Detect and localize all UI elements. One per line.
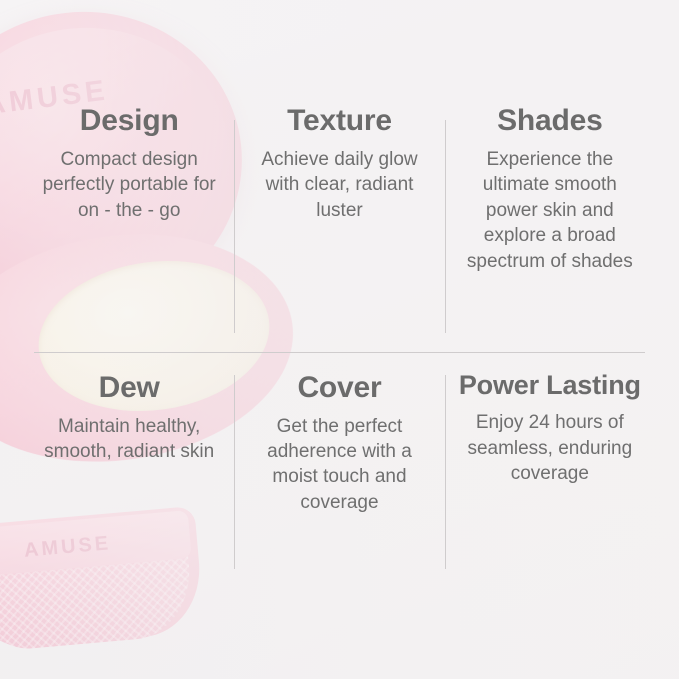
feature-cell-design: Design Compact design perfectly portable…	[24, 104, 234, 349]
feature-title-cover: Cover	[297, 371, 381, 404]
feature-cell-power-lasting: Power Lasting Enjoy 24 hours of seamless…	[445, 349, 655, 594]
feature-title-shades: Shades	[497, 104, 603, 137]
feature-description-dew: Maintain healthy, smooth, radiant skin	[38, 414, 220, 465]
feature-description-shades: Experience the ultimate smooth power ski…	[459, 147, 641, 274]
product-feature-infographic: AMUSE AMUSE Design Compact design perfec…	[0, 0, 679, 679]
feature-cell-shades: Shades Experience the ultimate smooth po…	[445, 104, 655, 349]
feature-description-cover: Get the perfect adherence with a moist t…	[248, 414, 430, 516]
feature-cell-cover: Cover Get the perfect adherence with a m…	[234, 349, 444, 594]
feature-description-texture: Achieve daily glow with clear, radiant l…	[248, 147, 430, 223]
feature-title-power-lasting: Power Lasting	[459, 371, 641, 401]
feature-title-dew: Dew	[99, 371, 160, 404]
feature-title-texture: Texture	[287, 104, 392, 137]
feature-grid: Design Compact design perfectly portable…	[0, 0, 679, 679]
feature-title-design: Design	[80, 104, 179, 137]
feature-description-power-lasting: Enjoy 24 hours of seamless, enduring cov…	[459, 410, 641, 486]
feature-cell-dew: Dew Maintain healthy, smooth, radiant sk…	[24, 349, 234, 594]
feature-cell-texture: Texture Achieve daily glow with clear, r…	[234, 104, 444, 349]
feature-description-design: Compact design perfectly portable for on…	[38, 147, 220, 223]
